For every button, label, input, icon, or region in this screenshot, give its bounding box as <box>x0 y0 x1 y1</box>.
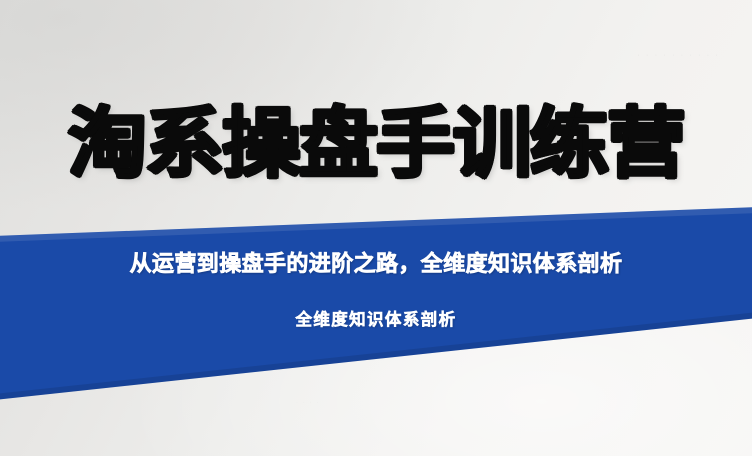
poster-canvas: · · · · · · · · · · 淘系操盘手训练营 从运营到操盘手的进阶之… <box>0 0 752 456</box>
blue-banner-shape <box>0 0 752 456</box>
tagline: 全维度知识体系剖析 <box>0 308 752 332</box>
page-title: 淘系操盘手训练营 <box>0 96 752 192</box>
subtitle: 从运营到操盘手的进阶之路，全维度知识体系剖析 <box>0 250 752 280</box>
